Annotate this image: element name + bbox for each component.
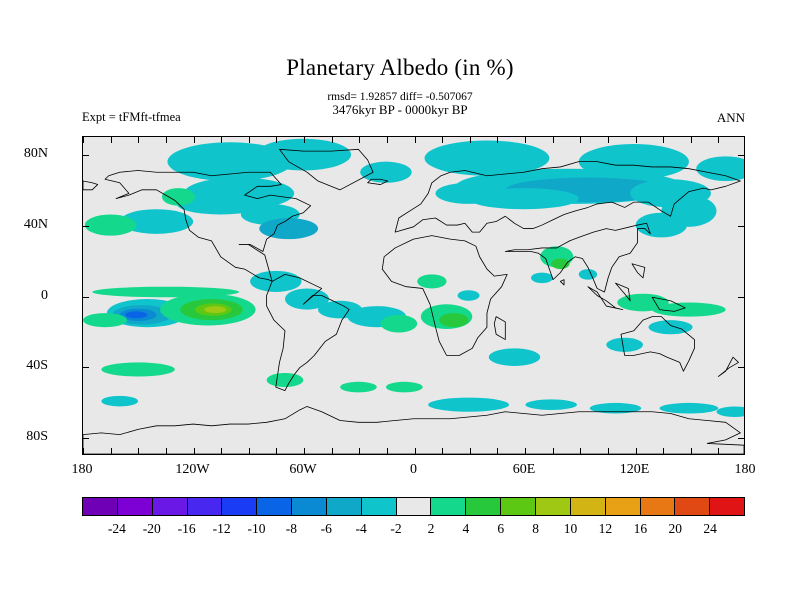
colorbar-swatch-5 [257,498,292,515]
x-tick [470,448,471,454]
y-axis-label: 40S [0,358,48,374]
y-axis-label: 0 [0,288,48,304]
colorbar-tick-label: -8 [286,521,297,537]
y-tick [83,226,89,227]
colorbar-tick-label: 6 [497,521,504,537]
coastline-path [560,280,564,285]
y-tick [83,155,89,156]
sahel-positive [417,274,446,288]
y-tick [83,438,89,439]
colorbar-swatch-3 [188,498,223,515]
coastline-path [494,317,505,340]
x-axis-label: 180 [72,462,93,478]
east-asia-negative [636,213,687,238]
x-tick [83,137,84,143]
x-tick [221,137,222,143]
colorbar-tick-label: 24 [703,521,717,537]
colorbar-swatch-15 [606,498,641,515]
colorbar-swatch-11 [466,498,501,515]
y-tick [738,226,744,227]
y-axis-label: 40N [0,217,48,233]
scandinavia-negative [436,183,502,204]
coastline-path [382,236,507,356]
colorbar-swatch-16 [641,498,676,515]
colorbar-tick-label: -24 [108,521,126,537]
arctic-negative [360,162,411,183]
y-tick [738,155,744,156]
x-tick [580,448,581,454]
colorbar-swatch-13 [536,498,571,515]
x-tick [249,137,250,143]
africa-negative [458,290,480,301]
colorbar-tick-label: 12 [599,521,613,537]
x-tick [304,137,305,143]
southern-ocean-negative [660,403,719,414]
colorbar-swatch-2 [153,498,188,515]
central-pacific-core [125,311,147,318]
world-map [83,137,744,454]
colorbar-swatch-0 [83,498,118,515]
coastline-path [588,287,623,310]
y-tick [83,367,89,368]
east-pacific-core [204,306,226,313]
x-tick [111,448,112,454]
southern-ocean-negative [716,406,744,417]
x-tick [691,137,692,143]
x-tick [387,137,388,143]
coral-sea-positive [652,303,725,317]
x-axis-label: 0 [410,462,417,478]
north-pacific-positive [85,214,136,235]
x-tick [276,448,277,454]
x-tick [608,137,609,143]
x-tick [691,448,692,454]
x-tick [442,137,443,143]
colorbar-tick-label: 8 [532,521,539,537]
x-tick [636,137,637,143]
itcz-positive [92,287,239,298]
x-tick [304,448,305,454]
x-tick [249,448,250,454]
colorbar-swatch-12 [501,498,536,515]
x-tick [663,137,664,143]
x-tick [332,137,333,143]
x-tick [525,137,526,143]
colorbar-tick-label: 20 [668,521,682,537]
colorbar-tick-label: 16 [634,521,648,537]
x-tick [359,137,360,143]
africa-positive-core [439,313,468,327]
x-tick [608,448,609,454]
coastline-path [505,223,650,292]
south-atlantic-positive [340,382,377,393]
colorbar-swatch-10 [431,498,466,515]
colorbar-swatch-8 [362,498,397,515]
pacific-nw-positive [162,188,195,206]
coastline-path [632,264,645,278]
south-pacific-positive [83,313,127,327]
x-tick [166,137,167,143]
arabian-sea-negative [531,273,553,284]
x-tick [166,448,167,454]
patagonia-positive [267,373,304,387]
colorbar-swatch-18 [710,498,744,515]
x-tick [332,448,333,454]
x-tick [138,448,139,454]
x-tick [553,137,554,143]
y-tick [738,297,744,298]
colorbar-swatch-6 [292,498,327,515]
x-tick [442,448,443,454]
colorbar-tick-label: -16 [178,521,196,537]
southern-ocean-negative [526,399,577,410]
x-tick [663,448,664,454]
x-axis-label: 120E [620,462,650,478]
x-tick [525,448,526,454]
x-tick [387,448,388,454]
indian-negative [489,348,540,366]
y-axis-label: 80N [0,146,48,162]
atlantic-positive [380,315,417,333]
x-axis-label: 60W [289,462,316,478]
albedo-map-figure: Planetary Albedo (in %) rmsd= 1.92857 di… [0,0,800,600]
colorbar-swatch-17 [675,498,710,515]
colorbar-tick-label: 10 [564,521,578,537]
x-tick [221,448,222,454]
x-axis-label: 120W [175,462,209,478]
map-plot-area [82,136,745,455]
colorbar-swatch-1 [118,498,153,515]
colorbar-swatch-14 [571,498,606,515]
colorbar-tick-label: -2 [390,521,401,537]
x-tick [276,137,277,143]
x-axis-label: 60E [513,462,536,478]
x-tick [194,137,195,143]
x-tick [718,137,719,143]
x-tick [83,448,84,454]
colorbar-tick-label: -4 [356,521,367,537]
page-title: Planetary Albedo (in %) [0,55,800,81]
coastline-path [83,406,744,454]
x-tick [553,448,554,454]
anomaly-fills [83,139,744,417]
x-tick [636,448,637,454]
colorbar-tick-label: -6 [321,521,332,537]
x-tick [497,137,498,143]
nw-atlantic-negative [259,218,318,239]
colorbar-swatch-9 [397,498,432,515]
x-axis-label: 180 [735,462,756,478]
y-tick [83,297,89,298]
colorbar-tick-label: -10 [247,521,265,537]
bay-bengal-negative [579,269,597,280]
arctic-negative [256,139,351,171]
y-tick [738,438,744,439]
south-pacific-positive [101,362,174,376]
south-atlantic-positive [386,382,423,393]
x-tick [359,448,360,454]
x-tick [497,448,498,454]
colorbar-tick-label: -12 [213,521,231,537]
colorbar-labels: -24-20-16-12-10-8-6-4-224681012162024 [82,521,745,539]
season-label: ANN [717,110,745,126]
x-tick [415,448,416,454]
x-tick [111,137,112,143]
y-tick [738,367,744,368]
caribbean-negative [250,271,301,292]
southern-ocean-negative [428,398,509,412]
colorbar-tick-label: 4 [462,521,469,537]
arctic-negative [696,156,744,181]
coastline-path [718,357,738,376]
y-axis-label: 80S [0,429,48,445]
southern-ocean-negative [101,396,138,407]
colorbar-tick-label: -20 [143,521,161,537]
x-tick [194,448,195,454]
x-tick [580,137,581,143]
colorbar-tick-label: 2 [428,521,435,537]
australia-negative [606,338,643,352]
x-tick [138,137,139,143]
colorbar-swatch-4 [222,498,257,515]
colorbar [82,497,745,516]
x-tick [470,137,471,143]
experiment-label: Expt = tFMft-tfmea [82,110,181,125]
colorbar-swatch-7 [327,498,362,515]
x-tick [415,137,416,143]
x-tick [718,448,719,454]
coastline-path [83,181,98,190]
